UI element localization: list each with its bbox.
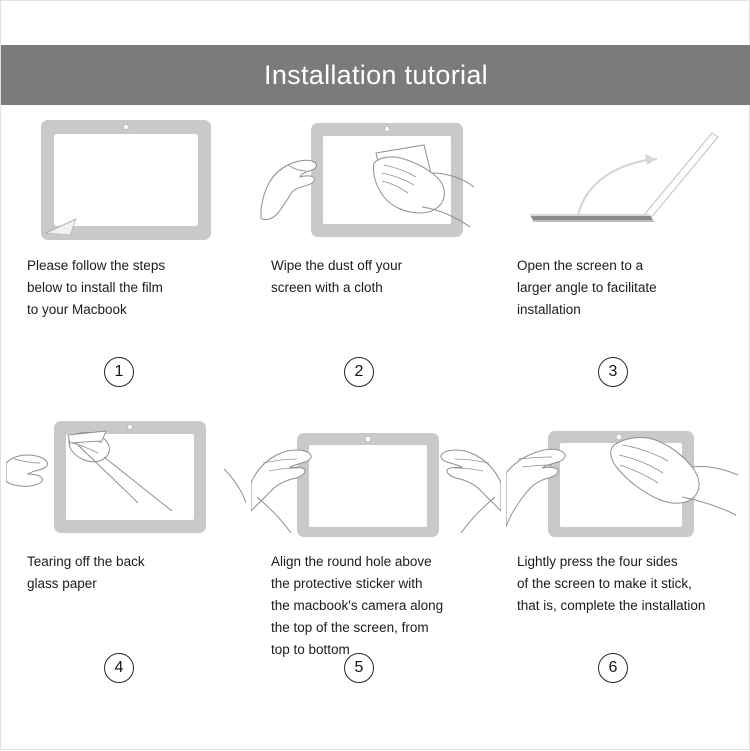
caption-line: that is, complete the installation (517, 595, 739, 617)
step-caption-2: Wipe the dust off your screen with a clo… (251, 255, 501, 299)
step-badge-wrap-2: 2 (251, 357, 501, 387)
tutorial-page: Installation tutorial Please follow the … (0, 0, 750, 750)
step-card-2: Wipe the dust off your screen with a clo… (251, 105, 501, 401)
step-badge-wrap-4: 4 (1, 653, 251, 683)
caption-line: to your Macbook (27, 299, 239, 321)
step-number-4: 4 (104, 653, 134, 683)
step-card-4: Tearing off the back glass paper 4 (1, 401, 251, 697)
step-illustration-6 (501, 401, 750, 551)
hand-pressing-film-edges-icon (506, 411, 746, 541)
step-number-3: 3 (598, 357, 628, 387)
caption-line: larger angle to facilitate (517, 277, 739, 299)
caption-line: Open the screen to a (517, 255, 739, 277)
step-caption-4: Tearing off the back glass paper (1, 551, 251, 595)
step-badge-wrap-5: 5 (251, 653, 501, 683)
hand-wiping-screen-with-cloth-icon (256, 115, 496, 245)
step-badge-wrap-3: 3 (501, 357, 750, 387)
hands-tearing-back-paper-icon (6, 411, 246, 541)
step-caption-3: Open the screen to a larger angle to fac… (501, 255, 750, 321)
step-illustration-4 (1, 401, 251, 551)
caption-line: of the screen to make it stick, (517, 573, 739, 595)
step-number-1: 1 (104, 357, 134, 387)
caption-line: the top of the screen, from (271, 617, 489, 639)
step-illustration-1 (1, 105, 251, 255)
caption-line: Wipe the dust off your (271, 255, 489, 277)
caption-line: below to install the film (27, 277, 239, 299)
caption-line: screen with a cloth (271, 277, 489, 299)
step-badge-wrap-6: 6 (501, 653, 750, 683)
step-number-6: 6 (598, 653, 628, 683)
step-caption-6: Lightly press the four sides of the scre… (501, 551, 750, 617)
two-hands-aligning-film-icon (251, 411, 501, 541)
step-card-5: Align the round hole above the protectiv… (251, 401, 501, 697)
step-badge-wrap-1: 1 (1, 357, 251, 387)
caption-line: Align the round hole above (271, 551, 489, 573)
step-illustration-5 (251, 401, 501, 551)
step-illustration-3 (501, 105, 750, 255)
caption-line: installation (517, 299, 739, 321)
caption-line: the macbook's camera along (271, 595, 489, 617)
caption-line: glass paper (27, 573, 239, 595)
caption-line: Tearing off the back (27, 551, 239, 573)
step-number-5: 5 (344, 653, 374, 683)
step-card-1: Please follow the steps below to install… (1, 105, 251, 401)
caption-line: the protective sticker with (271, 573, 489, 595)
caption-line: Lightly press the four sides (517, 551, 739, 573)
step-card-3: Open the screen to a larger angle to fac… (501, 105, 750, 401)
laptop-screen-with-peeling-film-corner-icon (36, 115, 216, 245)
step-number-2: 2 (344, 357, 374, 387)
step-illustration-2 (251, 105, 501, 255)
step-caption-5: Align the round hole above the protectiv… (251, 551, 501, 661)
steps-grid: Please follow the steps below to install… (1, 105, 750, 751)
page-title: Installation tutorial (264, 60, 488, 91)
step-card-6: Lightly press the four sides of the scre… (501, 401, 750, 697)
step-caption-1: Please follow the steps below to install… (1, 255, 251, 321)
laptop-side-profile-opening-angle-icon (516, 115, 736, 245)
caption-line: Please follow the steps (27, 255, 239, 277)
header-banner: Installation tutorial (1, 45, 750, 105)
